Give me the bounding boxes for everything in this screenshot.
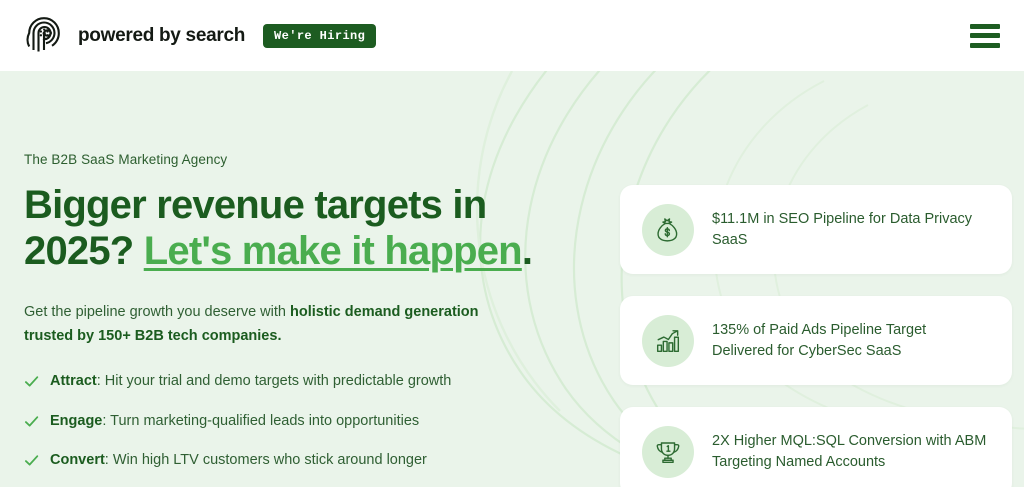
list-item-body: : Win high LTV customers who stick aroun… <box>105 452 427 468</box>
check-icon <box>24 414 39 429</box>
list-item-text: Attract: Hit your trial and demo targets… <box>50 372 451 392</box>
hamburger-bar-1 <box>970 24 1000 29</box>
headline-cta-link[interactable]: Let's make it happen <box>144 229 522 273</box>
check-icon <box>24 453 39 468</box>
result-card-text: $11.1M in SEO Pipeline for Data Privacy … <box>712 209 988 250</box>
headline-part-2: . <box>522 229 532 273</box>
page-title: Bigger revenue targets in 2025? Let's ma… <box>24 183 544 274</box>
hero-description: Get the pipeline growth you deserve with… <box>24 301 506 348</box>
hiring-badge[interactable]: We're Hiring <box>263 24 376 48</box>
list-item-text: Convert: Win high LTV customers who stic… <box>50 451 427 471</box>
list-item: Convert: Win high LTV customers who stic… <box>24 451 544 471</box>
list-item-label: Engage <box>50 413 102 429</box>
result-card-abm-conversion[interactable]: 2X Higher MQL:SQL Conversion with ABM Ta… <box>620 407 1012 487</box>
hamburger-menu-icon[interactable] <box>970 24 1000 48</box>
money-bag-icon <box>642 204 694 256</box>
hero-benefit-list: Attract: Hit your trial and demo targets… <box>24 372 544 471</box>
lede-normal: Get the pipeline growth you deserve with <box>24 304 290 320</box>
trophy-icon <box>642 426 694 478</box>
check-icon <box>24 374 39 389</box>
result-card-text: 135% of Paid Ads Pipeline Target Deliver… <box>712 320 988 361</box>
result-card-paid-ads[interactable]: 135% of Paid Ads Pipeline Target Deliver… <box>620 296 1012 385</box>
list-item: Engage: Turn marketing-qualified leads i… <box>24 412 544 432</box>
bar-chart-growth-icon <box>642 315 694 367</box>
result-card-seo-pipeline[interactable]: $11.1M in SEO Pipeline for Data Privacy … <box>620 185 1012 274</box>
list-item-label: Convert <box>50 452 105 468</box>
hamburger-bar-3 <box>970 43 1000 48</box>
list-item: Attract: Hit your trial and demo targets… <box>24 372 544 392</box>
brand-name: powered by search <box>78 25 245 47</box>
fingerprint-gear-logo <box>24 16 64 56</box>
hero-section: The B2B SaaS Marketing Agency Bigger rev… <box>0 71 1024 487</box>
list-item-body: : Turn marketing-qualified leads into op… <box>102 413 419 429</box>
hamburger-bar-2 <box>970 33 1000 38</box>
results-card-list: $11.1M in SEO Pipeline for Data Privacy … <box>620 185 1012 487</box>
result-card-text: 2X Higher MQL:SQL Conversion with ABM Ta… <box>712 431 988 472</box>
hero-left-column: The B2B SaaS Marketing Agency Bigger rev… <box>24 152 544 471</box>
hero-eyebrow: The B2B SaaS Marketing Agency <box>24 152 544 167</box>
brand-logo-link[interactable]: powered by search <box>24 16 245 56</box>
list-item-body: : Hit your trial and demo targets with p… <box>97 373 452 389</box>
list-item-label: Attract <box>50 373 97 389</box>
list-item-text: Engage: Turn marketing-qualified leads i… <box>50 412 419 432</box>
site-header: powered by search We're Hiring <box>0 0 1024 71</box>
